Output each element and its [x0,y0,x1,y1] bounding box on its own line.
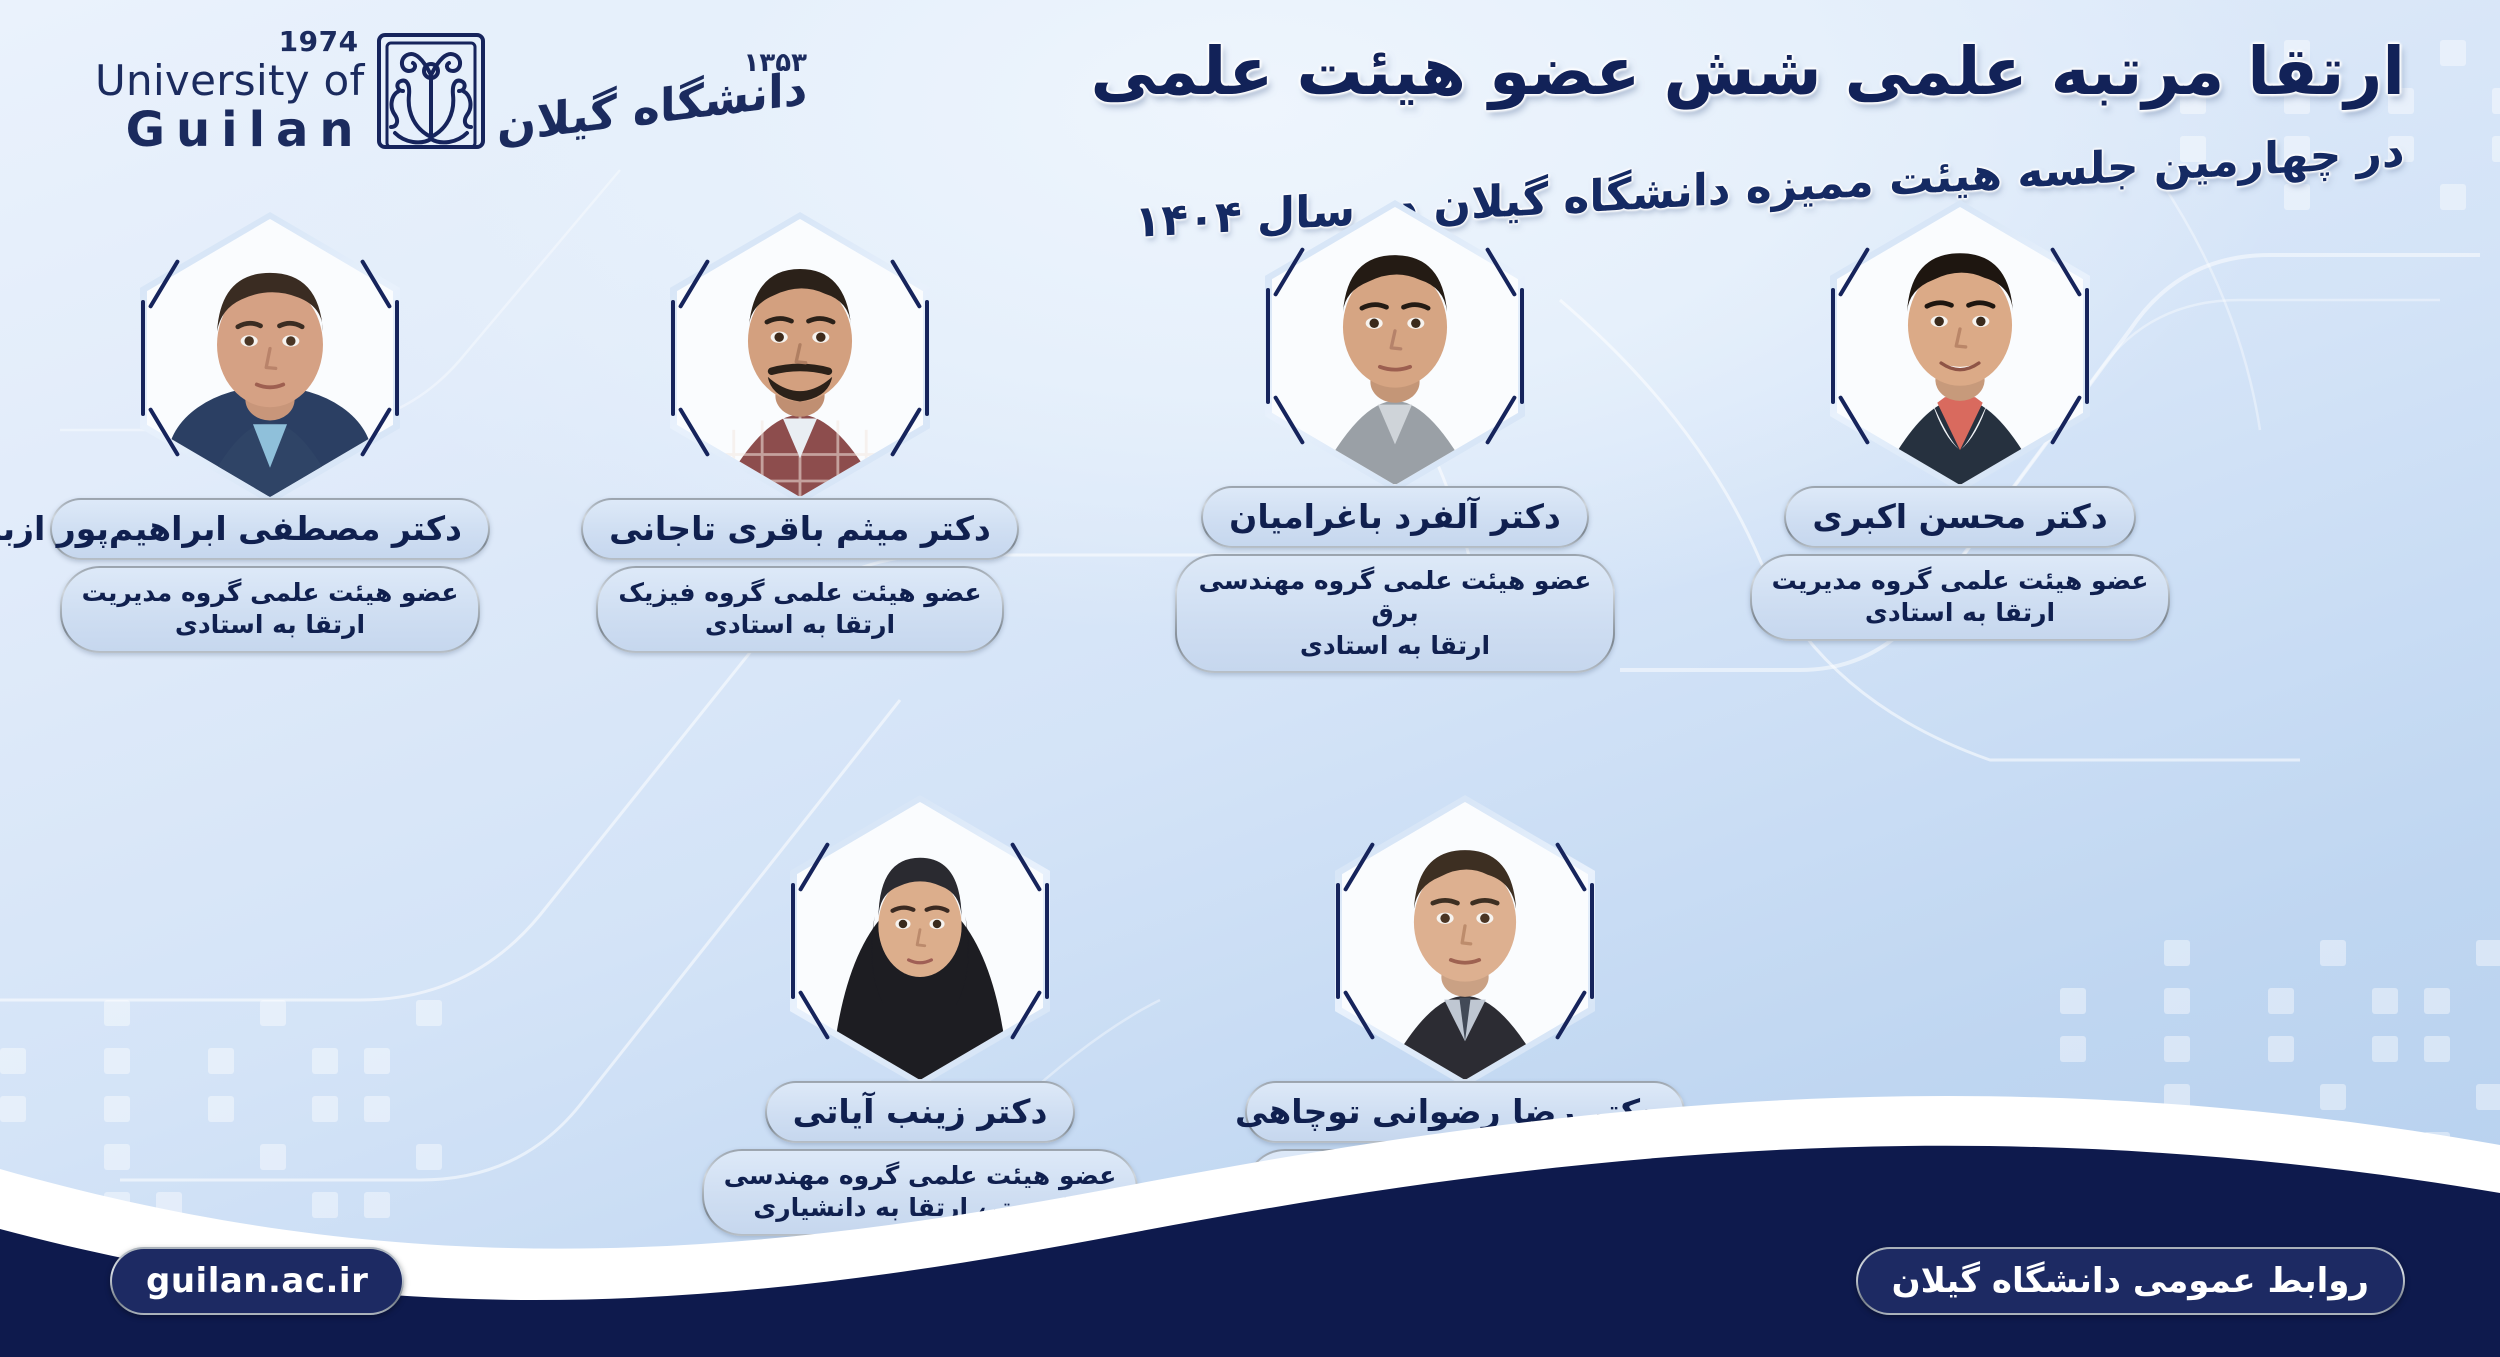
poster-canvas: 1974 University of Guilan [0,0,2500,1357]
hex-accent-left [671,300,675,417]
portrait-svg [147,219,393,497]
person-card[interactable]: دکتر مصطفی ابراهیم‌پور ازبری عضو هیئت عل… [50,212,490,653]
person-name-pill: دکتر آلفرد باغرامیان [1201,486,1589,548]
portrait-frame-inner [1837,207,2083,485]
person-name-pill: دکتر میثم باقری تاجانی [581,498,1019,560]
portrait-frame-inner [147,219,393,497]
portrait-frame [1265,200,1525,492]
person-role-line2: ارتقا به استادی [82,609,459,642]
hex-accent-right [2085,288,2089,405]
portrait-frame-inner [1272,207,1518,485]
person-card[interactable]: دکتر محسن اکبری عضو هیئت علمی گروه مدیری… [1740,200,2180,641]
hex-accent-left [1266,288,1270,405]
person-name: دکتر میثم باقری تاجانی [609,510,991,548]
person-name: دکتر آلفرد باغرامیان [1229,498,1561,536]
portrait-photo [677,219,923,497]
portrait-frame [1830,200,2090,492]
portrait-svg [1837,207,2083,485]
portrait-photo [147,219,393,497]
hex-accent-left [141,300,145,417]
person-card[interactable]: دکتر میثم باقری تاجانی عضو هیئت علمی گرو… [580,212,1020,653]
person-name-pill: دکتر محسن اکبری [1784,486,2135,548]
portrait-frame [140,212,400,504]
person-role-line1: عضو هیئت علمی گروه مهندسی برق [1197,565,1593,630]
portrait-svg [1272,207,1518,485]
person-name-pill: دکتر مصطفی ابراهیم‌پور ازبری [50,498,490,560]
person-role-line1: عضو هیئت علمی گروه فیزیک [618,577,981,610]
person-name: دکتر محسن اکبری [1812,498,2107,536]
person-role-line2: ارتقا به استادی [1197,630,1593,663]
portrait-photo [1272,207,1518,485]
website-url-button[interactable]: guilan.ac.ir [110,1247,404,1315]
hex-accent-right [925,300,929,417]
hex-accent-right [395,300,399,417]
person-role-pill: عضو هیئت علمی گروه مهندسی برق ارتقا به ا… [1175,554,1615,674]
person-role-line1: عضو هیئت علمی گروه مدیریت [82,577,459,610]
public-relations-label: روابط عمومی دانشگاه گیلان [1892,1261,2369,1301]
hex-accent-right [1520,288,1524,405]
portrait-photo [1837,207,2083,485]
person-role-line2: ارتقا به استادی [618,609,981,642]
portrait-frame [670,212,930,504]
person-name: دکتر مصطفی ابراهیم‌پور ازبری [78,510,462,548]
portrait-svg [677,219,923,497]
portrait-frame-inner [677,219,923,497]
person-role-line2: ارتقا به استادی [1772,597,2149,630]
person-role-pill: عضو هیئت علمی گروه فیزیک ارتقا به استادی [596,566,1003,653]
person-card[interactable]: دکتر آلفرد باغرامیان عضو هیئت علمی گروه … [1175,200,1615,673]
hex-accent-left [1831,288,1835,405]
website-url-label: guilan.ac.ir [146,1261,368,1301]
public-relations-badge[interactable]: روابط عمومی دانشگاه گیلان [1856,1247,2405,1315]
person-role-line1: عضو هیئت علمی گروه مدیریت [1772,565,2149,598]
person-role-pill: عضو هیئت علمی گروه مدیریت ارتقا به استاد… [1750,554,2171,641]
person-role-pill: عضو هیئت علمی گروه مدیریت ارتقا به استاد… [60,566,481,653]
